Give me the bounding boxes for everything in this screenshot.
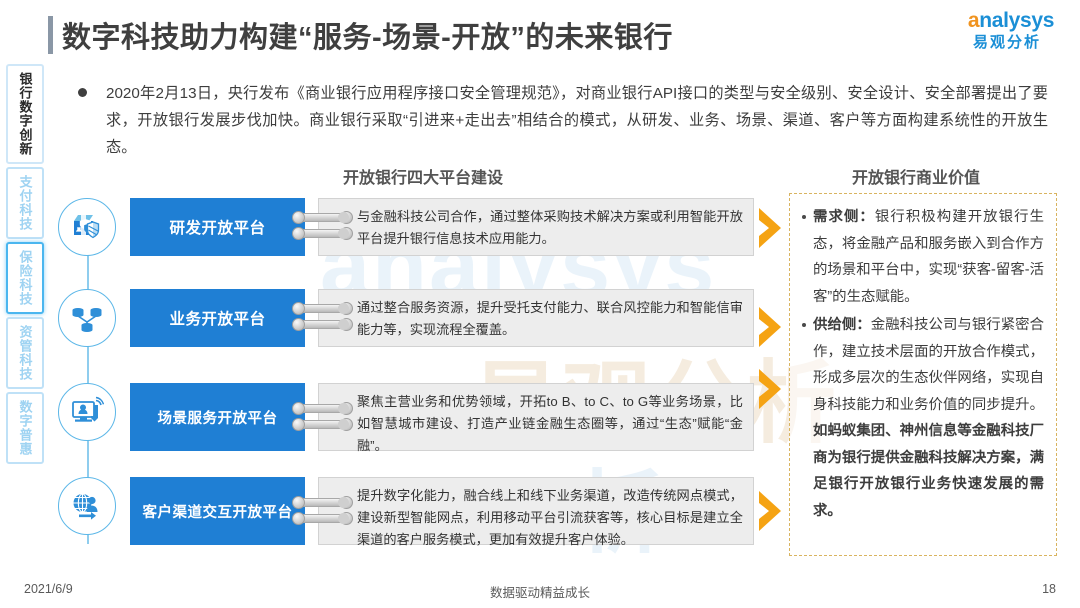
package-shield-icon	[58, 198, 116, 256]
intro-bullet: 2020年2月13日，央行发布《商业银行应用程序接口安全管理规范》，对商业银行A…	[78, 80, 1048, 161]
platform-description: 聚焦主营业务和优势领域，开拓to B、to C、to G等业务场景，比如智慧城市…	[318, 383, 754, 451]
sidebar-item-label: 支付科技	[18, 175, 33, 231]
logo-chinese: 易观分析	[952, 33, 1062, 53]
database-network-icon	[58, 289, 116, 347]
value-item-supply-side: 供给侧：金融科技公司与银行紧密合作，建立技术层面的开放合作模式，形成多层次的生态…	[800, 312, 1044, 524]
connector-link	[294, 302, 350, 313]
platform-description: 通过整合服务资源，提升受托支付能力、联合风控能力和智能信审能力等，实现流程全覆盖…	[318, 289, 754, 347]
page-title: 数字科技助力构建“服务-场景-开放”的未来银行	[62, 14, 673, 56]
platform-name-badge[interactable]: 研发开放平台	[130, 198, 305, 256]
connector-link	[294, 418, 350, 429]
sidebar-item-label: 银行数字创新	[18, 72, 33, 156]
connector-knob	[340, 211, 353, 224]
connector-knob	[340, 496, 353, 509]
sidebar-item-label: 数字普惠	[18, 400, 33, 456]
logo-word-rest: nalysys	[979, 9, 1054, 32]
sidebar-item-payment-tech[interactable]: 支付科技	[6, 167, 44, 239]
value-item-lead: 需求侧：	[813, 209, 875, 225]
footer-tagline: 数据驱动精益成长	[0, 582, 1080, 601]
platform-name-badge[interactable]: 场景服务开放平台	[130, 383, 305, 451]
chevron-right-icon	[756, 305, 786, 349]
left-column-heading: 开放银行四大平台建设	[343, 164, 503, 188]
bullet-dot-icon	[78, 88, 87, 97]
platform-connector-links	[294, 491, 350, 528]
platform-connector-links	[294, 397, 350, 434]
logo-wordmark: analysys	[956, 10, 1066, 32]
sidebar-item-asset-management-tech[interactable]: 资管科技	[6, 317, 44, 389]
value-item-bold-tail: 如蚂蚁集团、神州信息等金融科技厂商为银行提供金融科技解决方案，满足银行开放银行业…	[813, 423, 1044, 519]
sidebar-item-digital-inclusive-finance[interactable]: 数字普惠	[6, 392, 44, 464]
platform-name-badge[interactable]: 客户渠道交互开放平台	[130, 477, 305, 545]
platform-description: 提升数字化能力，融合线上和线下业务渠道，改造传统网点模式，建设新型智能网点，利用…	[318, 477, 754, 545]
connector-link	[294, 227, 350, 238]
platform-connector-links	[294, 297, 350, 334]
connector-knob	[340, 302, 353, 315]
connector-knob	[340, 318, 353, 331]
platform-description: 与金融科技公司合作，通过整体采购技术解决方案或利用智能开放平台提升银行信息技术应…	[318, 198, 754, 256]
chevron-right-icon	[756, 206, 786, 250]
right-column-heading: 开放银行商业价值	[852, 164, 980, 188]
platform-name-badge[interactable]: 业务开放平台	[130, 289, 305, 347]
intro-text: 2020年2月13日，央行发布《商业银行应用程序接口安全管理规范》，对商业银行A…	[106, 80, 1048, 161]
analysys-logo: analysys 易观分析	[952, 10, 1062, 58]
business-value-panel: 需求侧：银行积极构建开放银行生态，将金融产品和服务嵌入到合作方的场景和平台中，实…	[789, 193, 1057, 556]
globe-user-icon	[58, 477, 116, 535]
sidebar-item-label: 保险科技	[18, 250, 33, 306]
footer-page-number: 18	[1042, 582, 1056, 596]
connector-link	[294, 318, 350, 329]
connector-link	[294, 512, 350, 523]
sidebar-nav: 银行数字创新 支付科技 保险科技 资管科技 数字普惠	[6, 64, 46, 467]
connector-knob	[340, 402, 353, 415]
monitor-user-icon	[58, 383, 116, 441]
sidebar-item-insurance-tech[interactable]: 保险科技	[6, 242, 44, 314]
connector-link	[294, 496, 350, 507]
sidebar-item-label: 资管科技	[18, 325, 33, 381]
connector-knob	[340, 418, 353, 431]
title-accent-bar	[48, 16, 53, 54]
connector-link	[294, 402, 350, 413]
value-item-demand-side: 需求侧：银行积极构建开放银行生态，将金融产品和服务嵌入到合作方的场景和平台中，实…	[800, 204, 1044, 310]
platform-connector-links	[294, 206, 350, 243]
chevron-right-icon	[756, 367, 786, 411]
connector-link	[294, 211, 350, 222]
connector-knob	[340, 512, 353, 525]
page-footer: 2021/6/9 数据驱动精益成长 18	[0, 574, 1080, 608]
chevron-right-icon	[756, 489, 786, 533]
sidebar-item-bank-digital-innovation[interactable]: 银行数字创新	[6, 64, 44, 164]
logo-a-glyph: a	[968, 9, 979, 32]
page-header: 数字科技助力构建“服务-场景-开放”的未来银行 analysys 易观分析	[0, 0, 1080, 62]
connector-knob	[340, 227, 353, 240]
value-item-lead: 供给侧：	[813, 317, 871, 333]
